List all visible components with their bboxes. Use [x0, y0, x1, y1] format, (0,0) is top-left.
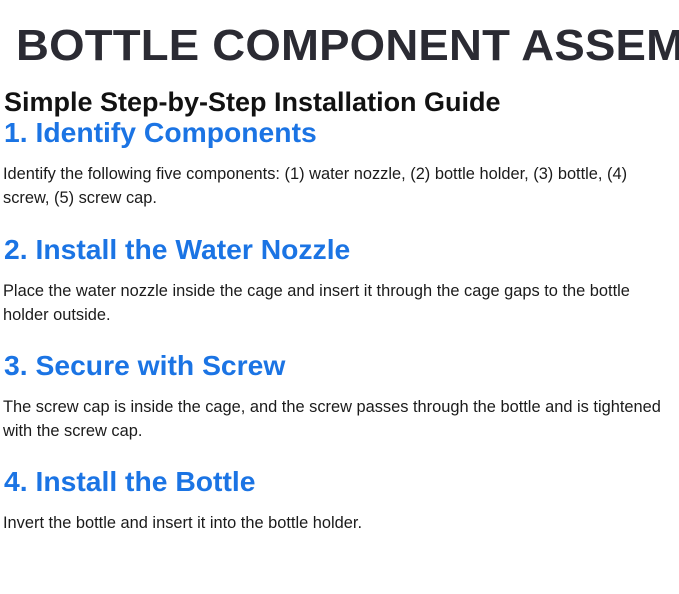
step-2-body: Place the water nozzle inside the cage a… [0, 265, 672, 327]
page-title: BOTTLE COMPONENT ASSEMBLY [16, 23, 679, 69]
step-2-heading: 2. Install the Water Nozzle [0, 235, 679, 265]
step-3-heading: 3. Secure with Screw [0, 351, 679, 381]
step-4-heading: 4. Install the Bottle [0, 467, 679, 497]
page-subtitle: Simple Step-by-Step Installation Guide [4, 86, 676, 118]
step-3-body: The screw cap is inside the cage, and th… [0, 381, 672, 443]
instruction-step-4: 4. Install the Bottle Invert the bottle … [0, 467, 679, 535]
instruction-step-1: 1. Identify Components Identify the foll… [0, 118, 679, 210]
instruction-step-2: 2. Install the Water Nozzle Place the wa… [0, 235, 679, 327]
instruction-steps-list: 1. Identify Components Identify the foll… [0, 118, 679, 535]
step-1-heading: 1. Identify Components [0, 118, 679, 148]
instruction-step-3: 3. Secure with Screw The screw cap is in… [0, 351, 679, 443]
instruction-sheet: BOTTLE COMPONENT ASSEMBLY Simple Step-by… [0, 0, 679, 594]
step-1-body: Identify the following five components: … [0, 148, 672, 210]
step-4-body: Invert the bottle and insert it into the… [0, 497, 672, 535]
